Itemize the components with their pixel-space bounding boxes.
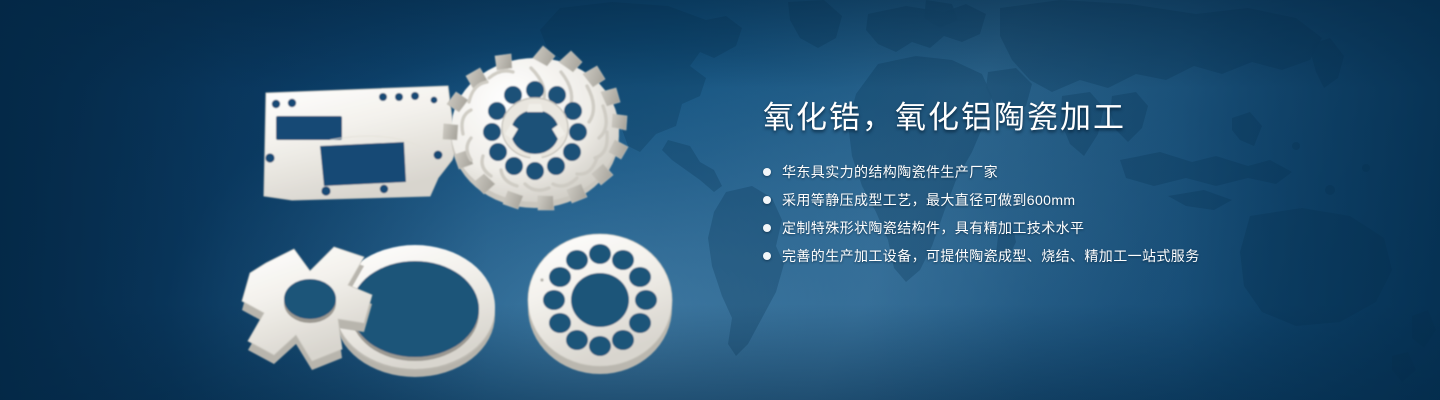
list-item: 定制特殊形状陶瓷结构件，具有精加工技术水平	[763, 219, 1383, 237]
bullet-dot-icon	[763, 224, 771, 232]
banner-copy: 氧化锆，氧化铝陶瓷加工 华东具实力的结构陶瓷件生产厂家 采用等静压成型工艺，最大…	[763, 102, 1383, 265]
feature-text: 采用等静压成型工艺，最大直径可做到600mm	[782, 191, 1075, 209]
feature-text: 华东具实力的结构陶瓷件生产厂家	[782, 163, 998, 181]
ceramic-mounting-plate	[264, 86, 456, 200]
feature-text: 完善的生产加工设备，可提供陶瓷成型、烧结、精加工一站式服务	[782, 247, 1200, 265]
ceramic-impeller	[443, 46, 628, 210]
bullet-dot-icon	[763, 252, 771, 260]
list-item: 采用等静压成型工艺，最大直径可做到600mm	[763, 191, 1383, 209]
list-item: 完善的生产加工设备，可提供陶瓷成型、烧结、精加工一站式服务	[763, 247, 1383, 265]
page-title: 氧化锆，氧化铝陶瓷加工	[763, 102, 1383, 133]
bullet-dot-icon	[763, 196, 771, 204]
hero-banner: 氧化锆，氧化铝陶瓷加工 华东具实力的结构陶瓷件生产厂家 采用等静压成型工艺，最大…	[0, 0, 1440, 400]
product-photo-group	[0, 0, 760, 400]
list-item: 华东具实力的结构陶瓷件生产厂家	[763, 163, 1383, 181]
ceramic-valve-plate	[528, 234, 672, 374]
feature-list: 华东具实力的结构陶瓷件生产厂家 采用等静压成型工艺，最大直径可做到600mm 定…	[763, 163, 1383, 265]
bullet-dot-icon	[763, 168, 771, 176]
feature-text: 定制特殊形状陶瓷结构件，具有精加工技术水平	[782, 219, 1084, 237]
